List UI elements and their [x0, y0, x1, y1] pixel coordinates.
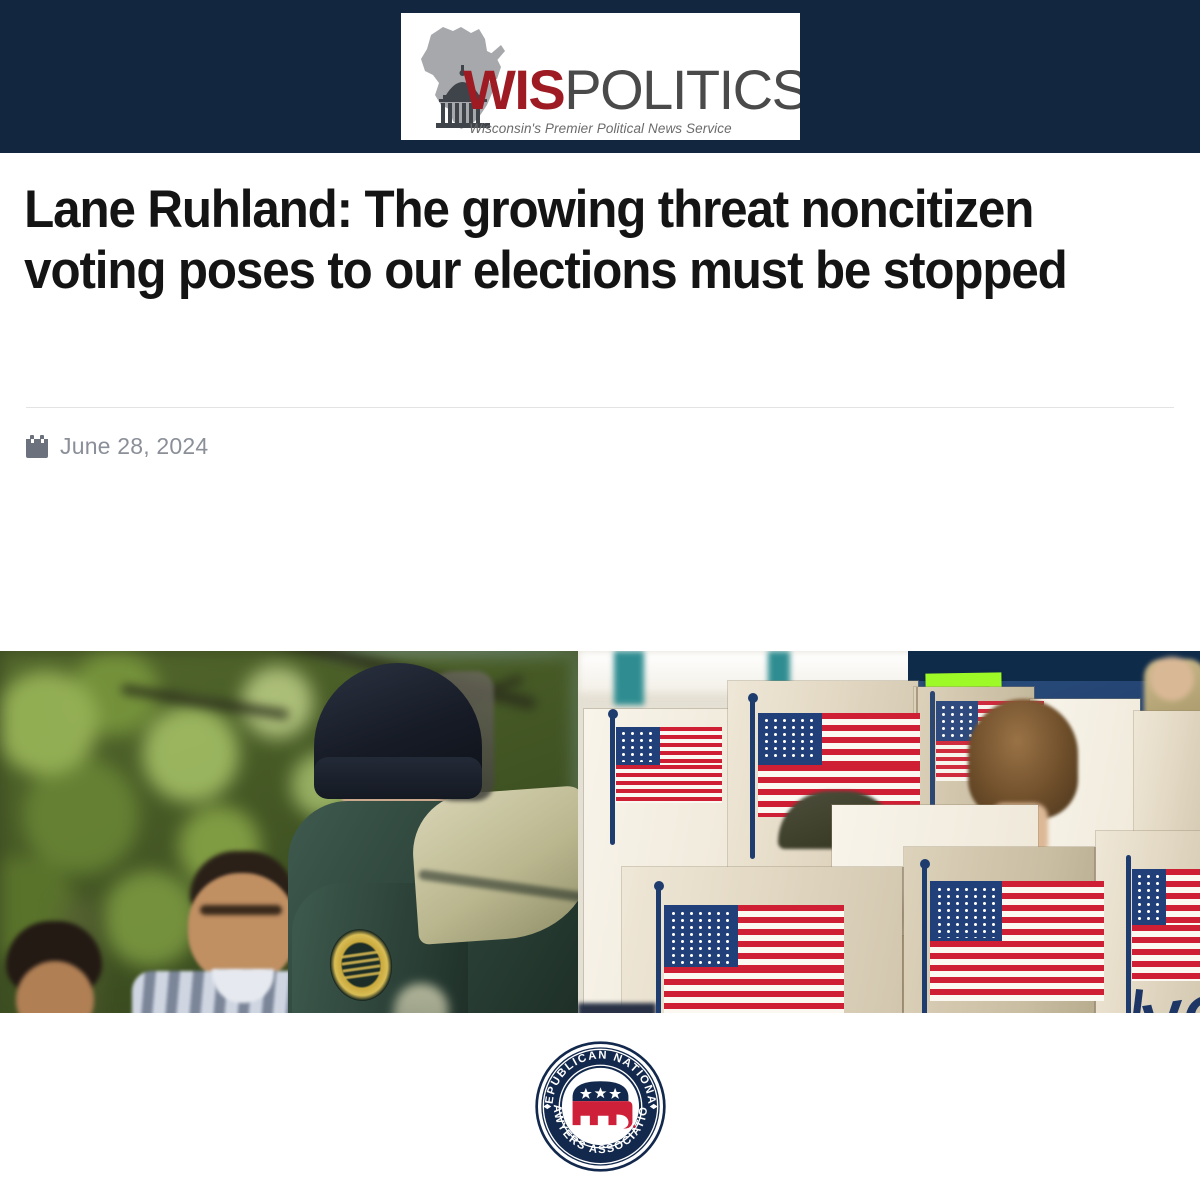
article-date-row: June 28, 2024	[26, 431, 208, 461]
footer: REPUBLICAN NATIONAL LAWYERS ASSOCIATION	[0, 1013, 1200, 1200]
headline-divider	[26, 407, 1174, 408]
rnla-seal[interactable]: REPUBLICAN NATIONAL LAWYERS ASSOCIATION	[534, 1040, 667, 1173]
logo-wordmark: WISPOLITICS	[463, 61, 799, 119]
page-title: Lane Ruhland: The growing threat nonciti…	[0, 153, 1167, 302]
site-logo[interactable]: WISPOLITICS Wisconsin's Premier Politica…	[401, 13, 800, 140]
calendar-icon	[26, 435, 48, 458]
logo-word-wis: WIS	[463, 58, 564, 121]
logo-word-politics: POLITICS	[564, 58, 800, 121]
logo-tagline: Wisconsin's Premier Political News Servi…	[401, 121, 800, 136]
article-container: Lane Ruhland: The growing threat nonciti…	[0, 153, 1200, 302]
article-date: June 28, 2024	[60, 433, 208, 460]
site-header: WISPOLITICS Wisconsin's Premier Politica…	[0, 0, 1200, 153]
us-flag-graphic	[610, 715, 730, 845]
